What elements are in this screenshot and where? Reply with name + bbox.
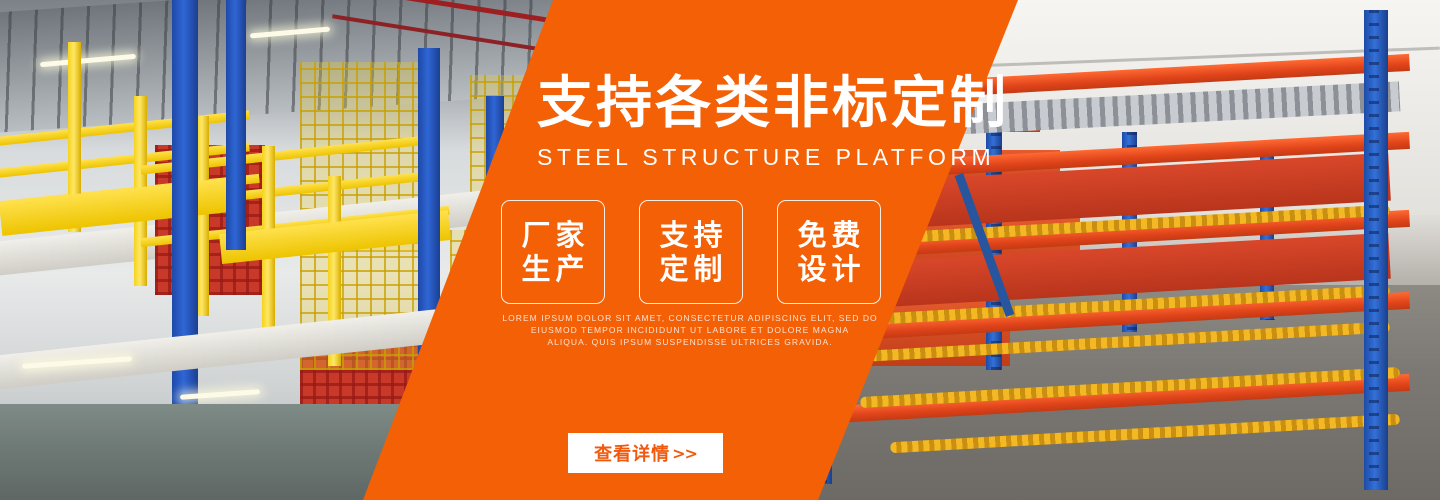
view-details-button[interactable]: 查看详情 >> bbox=[568, 433, 723, 473]
feature-box-line2: 生产 bbox=[516, 253, 589, 285]
feature-box-line1: 支持 bbox=[654, 219, 727, 251]
feature-box-line1: 免费 bbox=[792, 219, 865, 251]
subtitle: STEEL STRUCTURE PLATFORM bbox=[537, 145, 967, 170]
view-details-label: 查看详情 bbox=[594, 440, 670, 466]
description-line-1: LOREM IPSUM DOLOR SIT AMET, CONSECTETUR … bbox=[480, 312, 900, 324]
feature-box-group: 厂家 生产 支持 定制 免费 设计 bbox=[501, 200, 881, 304]
chevron-right-icon: >> bbox=[672, 444, 697, 463]
description-line-2: EIUSMOD TEMPOR INCIDIDUNT UT LABORE ET D… bbox=[480, 324, 900, 336]
promo-banner: 支持各类非标定制 STEEL STRUCTURE PLATFORM 厂家 生产 … bbox=[0, 0, 1440, 500]
page-title: 支持各类非标定制 bbox=[537, 76, 967, 132]
feature-box-customization: 支持 定制 bbox=[639, 200, 743, 304]
feature-box-manufacturer: 厂家 生产 bbox=[501, 200, 605, 304]
feature-box-line1: 厂家 bbox=[516, 219, 589, 251]
feature-box-line2: 定制 bbox=[654, 253, 727, 285]
description-text: LOREM IPSUM DOLOR SIT AMET, CONSECTETUR … bbox=[480, 312, 900, 348]
banner-content: 支持各类非标定制 STEEL STRUCTURE PLATFORM 厂家 生产 … bbox=[0, 0, 1440, 500]
description-line-3: ALIQUA. QUIS IPSUM SUSPENDISSE ULTRICES … bbox=[480, 336, 900, 348]
feature-box-line2: 设计 bbox=[792, 253, 865, 285]
feature-box-free-design: 免费 设计 bbox=[777, 200, 881, 304]
